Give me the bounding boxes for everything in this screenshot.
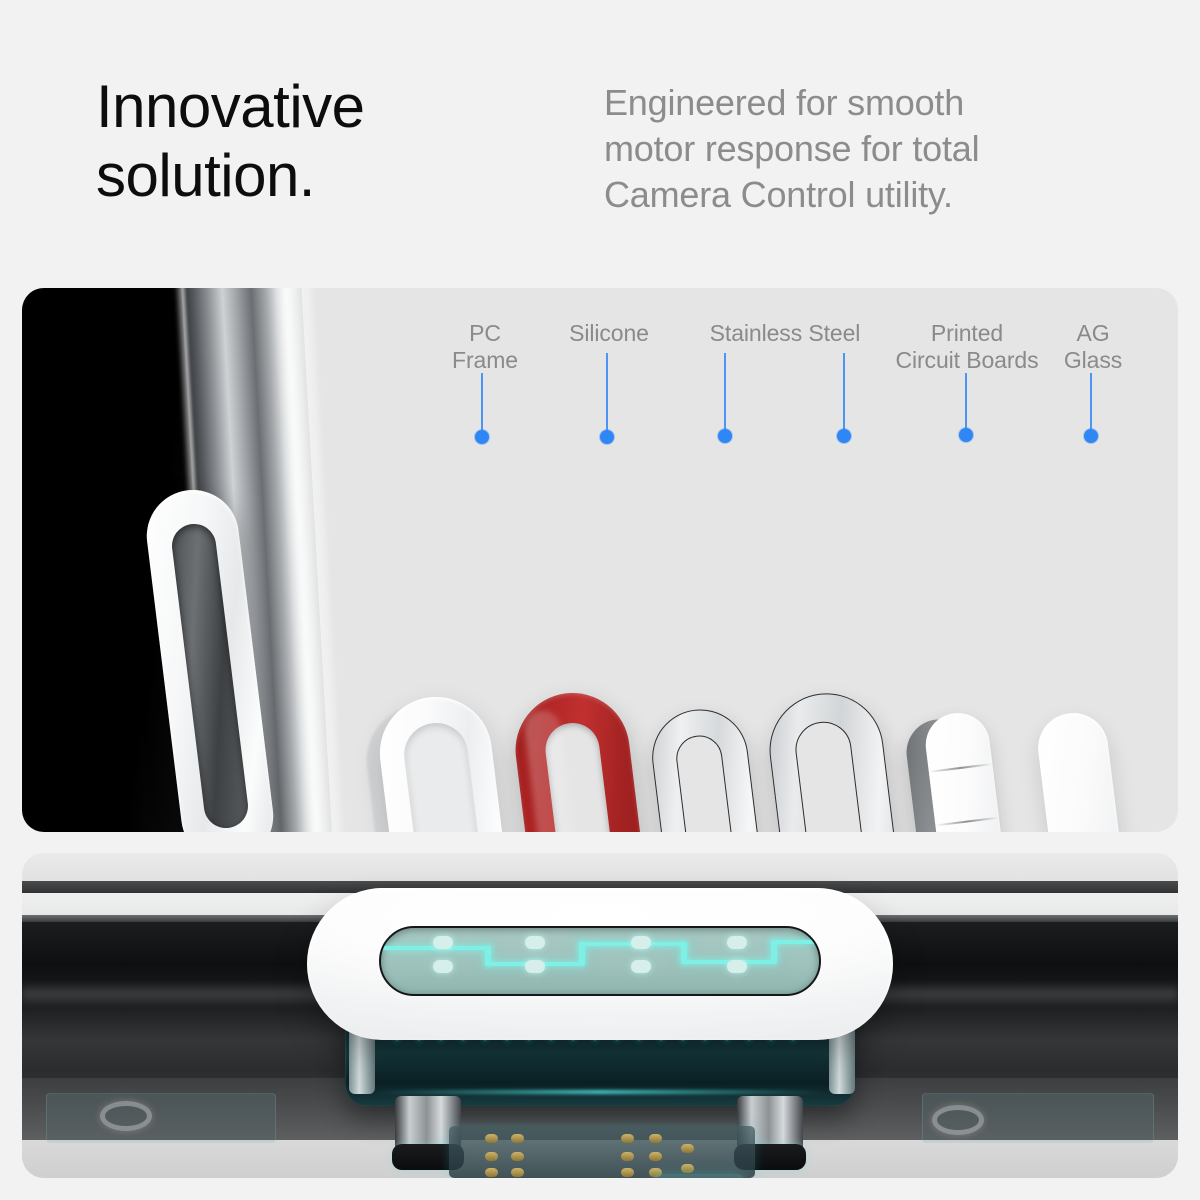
tactile-dome-switch xyxy=(653,1174,745,1178)
pcb-face xyxy=(922,709,1025,832)
flex-pcb-strip xyxy=(449,1126,755,1178)
callout-label-printed-circuit-boards: Printed Circuit Boards xyxy=(895,320,1038,374)
pcb-segment-divider xyxy=(929,763,993,772)
circuit-trace xyxy=(771,940,821,944)
leader-line xyxy=(606,353,608,437)
leader-line xyxy=(965,373,967,435)
leader-dot xyxy=(600,430,614,444)
camera-control-assembly xyxy=(283,888,917,1148)
circuit-pad xyxy=(727,936,747,949)
phone-photo xyxy=(22,288,382,832)
page-subtitle: Engineered for smooth motor response for… xyxy=(604,80,1134,218)
module-scene xyxy=(22,853,1178,1178)
leader-dot xyxy=(1084,429,1098,443)
circuit-pad xyxy=(631,960,651,973)
gold-contact xyxy=(649,1152,662,1161)
exploded-diagram-panel: PC FrameSiliconeStainless SteelPrinted C… xyxy=(22,288,1178,832)
callout-label-pc-frame: PC Frame xyxy=(452,320,518,374)
circuit-pad xyxy=(631,936,651,949)
leader-line xyxy=(1090,373,1092,436)
gold-contact xyxy=(681,1164,694,1173)
gold-contact xyxy=(485,1152,498,1161)
leader-dot xyxy=(718,429,732,443)
ag-glass-slab xyxy=(1034,709,1144,832)
logic-board-left xyxy=(46,1093,276,1143)
gold-contact xyxy=(511,1168,524,1177)
circuit-pad xyxy=(525,960,545,973)
leader-line xyxy=(724,353,726,436)
gold-contact xyxy=(485,1168,498,1177)
module-cutaway-panel xyxy=(22,853,1178,1178)
gold-contact xyxy=(511,1152,524,1161)
header: Innovative solution. Engineered for smoo… xyxy=(0,0,1200,288)
solder-ring-left xyxy=(100,1101,152,1131)
callout-label-ag-glass: AG Glass xyxy=(1064,320,1122,374)
phone-edge-band-top xyxy=(22,853,1178,881)
gold-contact xyxy=(649,1134,662,1143)
gold-contact xyxy=(511,1134,524,1143)
gold-contact xyxy=(681,1144,694,1153)
product-feature-page: Innovative solution. Engineered for smoo… xyxy=(0,0,1200,1200)
component-ag-glass xyxy=(1022,707,1158,832)
gold-contact xyxy=(621,1168,634,1177)
circuit-pad xyxy=(727,960,747,973)
page-title: Innovative solution. xyxy=(96,72,576,210)
leader-dot xyxy=(475,430,489,444)
callout-label-silicone: Silicone xyxy=(569,320,649,347)
leader-dot xyxy=(837,429,851,443)
leader-dot xyxy=(959,428,973,442)
leader-line xyxy=(481,373,483,437)
gold-contact xyxy=(485,1134,498,1143)
circuit-pad xyxy=(433,936,453,949)
circuit-pad xyxy=(433,960,453,973)
circuit-pad xyxy=(525,936,545,949)
gold-contact xyxy=(621,1152,634,1161)
leader-line xyxy=(843,353,845,436)
callout-label-stainless-steel: Stainless Steel xyxy=(710,320,861,347)
gold-contact xyxy=(621,1134,634,1143)
button-cap-circuit-window xyxy=(379,926,821,996)
pcb-segment-divider xyxy=(935,817,999,826)
solder-ring-right xyxy=(932,1105,984,1135)
